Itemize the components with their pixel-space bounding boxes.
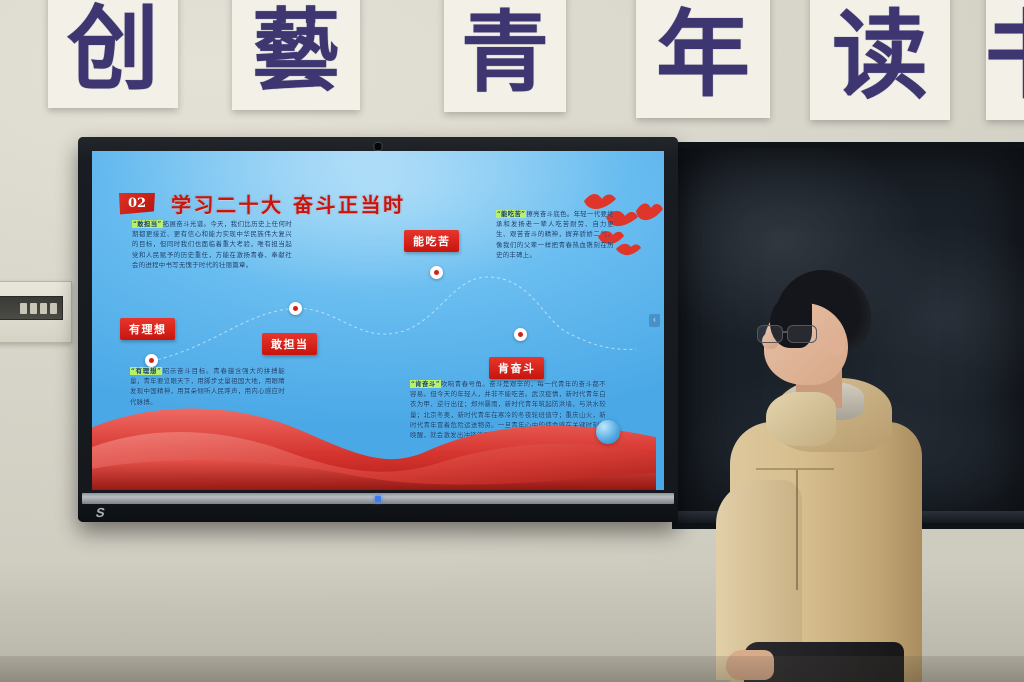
breaker-switch (50, 303, 57, 314)
lens-right (787, 325, 817, 343)
paragraph-top-right: “能吃苦”擦亮奋斗底色。年轻一代要继承和发扬老一辈人吃苦耐劳、自力更生、艰苦奋斗… (496, 209, 614, 260)
lens-left (757, 325, 783, 343)
breaker-switch (40, 303, 47, 314)
node-label-ganddangdang[interactable]: 敢担当 (262, 333, 317, 355)
power-indicator-led (375, 496, 381, 502)
brand-logo: S (95, 506, 114, 520)
electrical-panel (0, 281, 72, 343)
interactive-flat-panel-display[interactable]: 02 学习二十大 奋斗正当时 (78, 137, 678, 522)
calligraphy-banner-5: 读 (810, 0, 950, 120)
calligraphy-char: 读 (832, 8, 928, 104)
jacket-collar (766, 392, 836, 446)
calligraphy-banner-6: 书 (986, 0, 1024, 120)
paragraph-keyword: “能吃苦” (496, 210, 526, 218)
display-bezel: 02 学习二十大 奋斗正当时 (78, 137, 678, 522)
calligraphy-char: 年 (656, 8, 750, 102)
person-viewing-display (700, 270, 930, 682)
jacket-seam (796, 470, 798, 590)
node-label-nengchiku[interactable]: 能吃苦 (404, 230, 459, 252)
node-label-youlixiang[interactable]: 有理想 (120, 318, 175, 340)
calligraphy-banner-3: 青 (444, 0, 566, 112)
paragraph-keyword: “有理想” (130, 367, 162, 375)
calligraphy-banner-1: 创 (48, 0, 178, 108)
calligraphy-char: 青 (461, 8, 549, 96)
node-marker-4 (514, 328, 527, 341)
floor-line (0, 656, 1024, 682)
breaker-switch (30, 303, 37, 314)
calligraphy-char: 藝 (252, 6, 340, 94)
decorative-orb (596, 420, 620, 444)
presentation-screen[interactable]: 02 学习二十大 奋斗正当时 (92, 151, 664, 490)
calligraphy-banner-2: 藝 (232, 0, 360, 110)
jacket-pocket-line (756, 468, 834, 470)
chevron-left-icon[interactable]: ‹ (649, 314, 660, 327)
node-label-kenfendou[interactable]: 肯奋斗 (489, 357, 544, 379)
red-wave-graphic (92, 382, 656, 490)
paragraph-top-left: “敢担当”拓展奋斗光谱。今天，我们比历史上任何时期都更接近、更有信心和能力实现中… (132, 219, 292, 270)
camera-icon (375, 143, 382, 150)
glasses-icon (757, 325, 831, 343)
paragraph-keyword: “敢担当” (132, 220, 163, 228)
calligraphy-banner-4: 年 (636, 0, 770, 118)
calligraphy-char: 书 (986, 8, 1024, 104)
calligraphy-char: 创 (67, 3, 159, 95)
breaker-slot (0, 296, 63, 320)
node-marker-2 (289, 302, 302, 315)
breaker-switch (20, 303, 27, 314)
node-marker-3 (430, 266, 443, 279)
